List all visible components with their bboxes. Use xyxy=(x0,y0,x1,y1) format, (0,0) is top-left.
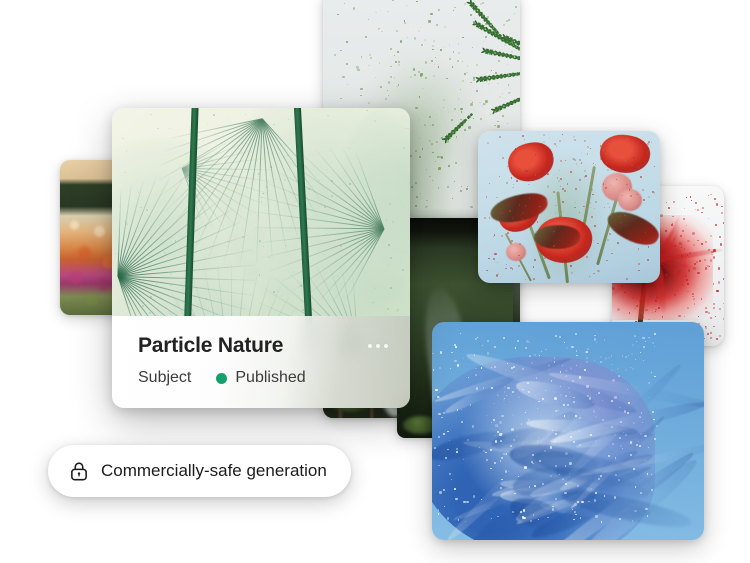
gallery-card-poppies[interactable] xyxy=(478,131,660,283)
more-options-button[interactable] xyxy=(364,340,392,352)
project-title: Particle Nature xyxy=(138,334,283,358)
project-card-footer: Particle Nature Subject Published xyxy=(112,316,410,408)
project-type-label: Subject xyxy=(138,369,191,387)
collage-canvas: Particle Nature Subject Published Commer… xyxy=(0,0,750,563)
lock-icon xyxy=(68,460,90,482)
red-poppies-artwork xyxy=(478,131,660,283)
status-badge: Published xyxy=(216,369,305,387)
dot-1-icon xyxy=(368,344,372,348)
project-card-particle-nature[interactable]: Particle Nature Subject Published xyxy=(112,108,410,408)
dot-2-icon xyxy=(376,344,380,348)
blue-wave-artwork xyxy=(432,322,704,540)
status-dot-icon xyxy=(216,373,227,384)
project-meta: Subject Published xyxy=(138,369,306,387)
dot-3-icon xyxy=(384,344,388,348)
gallery-card-blue-wave[interactable] xyxy=(432,322,704,540)
badge-label: Commercially-safe generation xyxy=(101,461,327,481)
commercially-safe-badge[interactable]: Commercially-safe generation xyxy=(48,445,351,497)
status-label: Published xyxy=(235,369,305,387)
